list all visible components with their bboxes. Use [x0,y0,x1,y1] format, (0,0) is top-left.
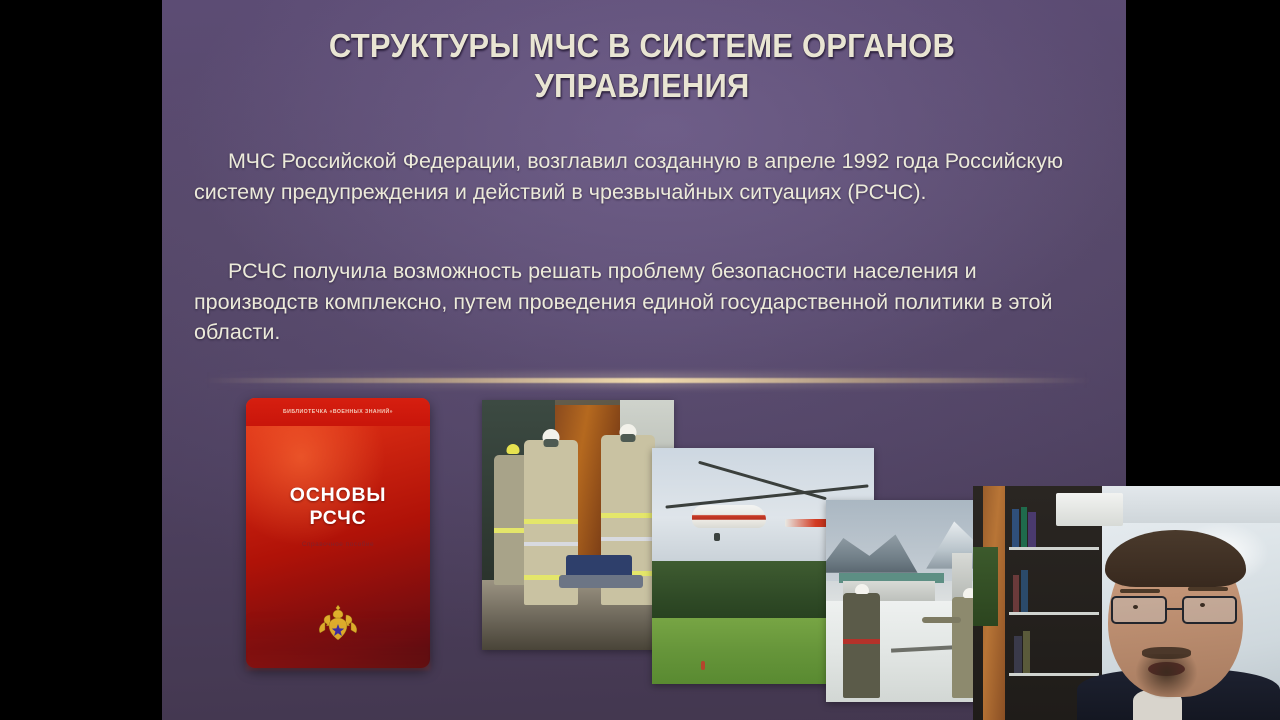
slide-paragraph-2: РСЧС получила возможность решать проблем… [194,256,1082,348]
slide-paragraph-1: МЧС Российской Федерации, возглавил созд… [194,146,1082,207]
letterbox-left [0,0,162,720]
eyeglasses [1111,596,1237,624]
gold-divider-line [202,378,1092,383]
book-reflection [246,610,430,670]
screen: СТРУКТУРЫ МЧС В СИСТЕМЕ ОРГАНОВ УПРАВЛЕН… [0,0,1280,720]
book-banner-text: БИБЛИОТЕЧКА «ВОЕННЫХ ЗНАНИЙ» [283,409,393,415]
book-subtitle-text: Справочное пособие [246,541,430,548]
presenter-webcam[interactable] [973,486,1280,720]
book-cover-image: БИБЛИОТЕЧКА «ВОЕННЫХ ЗНАНИЙ» ОСНОВЫ РСЧС… [246,398,430,698]
photo-rescuers-carrying-stretcher [482,400,674,650]
book-title-text: ОСНОВЫ РСЧС [246,484,430,530]
book-banner: БИБЛИОТЕЧКА «ВОЕННЫХ ЗНАНИЙ» [246,398,430,426]
slide-title: СТРУКТУРЫ МЧС В СИСТЕМЕ ОРГАНОВ УПРАВЛЕН… [247,26,1037,107]
air-conditioner [1056,493,1124,526]
